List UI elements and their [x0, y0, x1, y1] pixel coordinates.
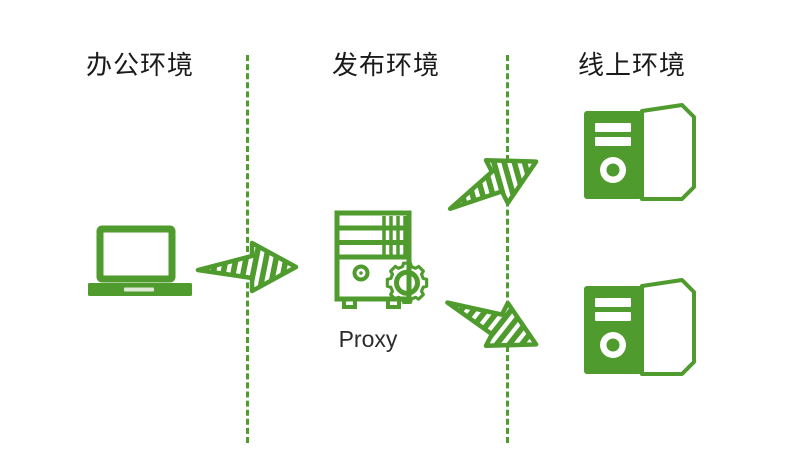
server-tower-icon [582, 278, 698, 376]
diagram-canvas: 办公环境 发布环境 线上环境 [0, 0, 800, 471]
sketch-arrow-icon [435, 275, 552, 370]
node-laptop[interactable] [88, 227, 192, 299]
divider-release-production [506, 55, 509, 443]
proxy-server-icon [332, 209, 438, 313]
arrow-proxy-to-server-lower [435, 275, 552, 370]
proxy-label: Proxy [293, 328, 443, 351]
server-tower-icon [582, 103, 698, 201]
zone-title-office: 办公环境 [60, 52, 220, 78]
zone-title-release: 发布环境 [306, 52, 466, 78]
node-proxy[interactable] [332, 209, 438, 313]
node-server-upper[interactable] [582, 103, 698, 201]
sketch-arrow-icon [435, 136, 552, 231]
laptop-icon [88, 227, 192, 299]
sketch-arrow-icon [196, 240, 300, 294]
arrow-proxy-to-server-upper [435, 136, 552, 231]
zone-title-production: 线上环境 [552, 52, 712, 78]
arrow-office-to-proxy [196, 240, 300, 294]
node-server-lower[interactable] [582, 278, 698, 376]
